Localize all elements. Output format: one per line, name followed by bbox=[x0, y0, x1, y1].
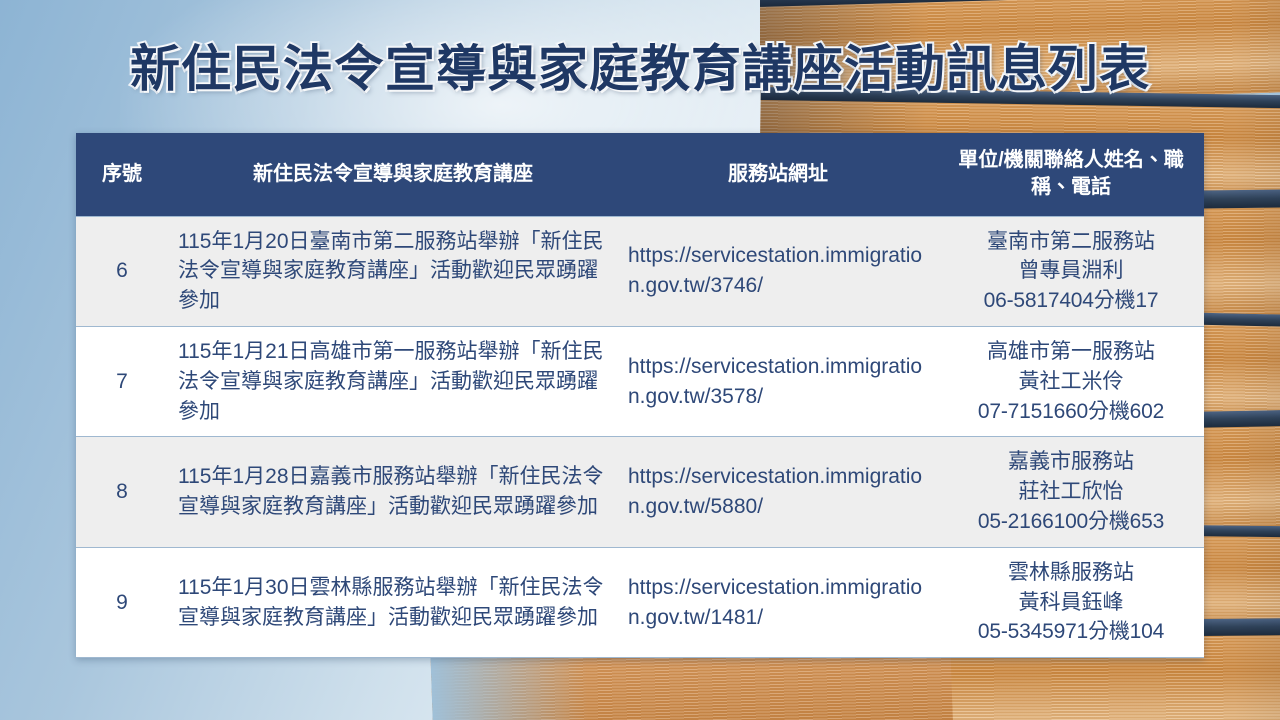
contact-station: 嘉義市服務站 bbox=[948, 447, 1194, 477]
contact-person: 莊社工欣怡 bbox=[948, 477, 1194, 507]
info-table-container: 序號 新住民法令宣導與家庭教育講座 服務站網址 單位/機關聯絡人姓名、職稱、電話… bbox=[76, 133, 1204, 658]
contact-person: 曾專員淵利 bbox=[948, 256, 1194, 286]
contact-station: 臺南市第二服務站 bbox=[948, 227, 1194, 257]
contact-phone: 07-7151660分機602 bbox=[948, 397, 1194, 427]
table-header: 序號 新住民法令宣導與家庭教育講座 服務站網址 單位/機關聯絡人姓名、職稱、電話 bbox=[76, 133, 1204, 216]
cell-event-title: 115年1月21日高雄市第一服務站舉辦「新住民法令宣導與家庭教育講座」活動歡迎民… bbox=[168, 326, 618, 436]
table-row: 8 115年1月28日嘉義市服務站舉辦「新住民法令宣導與家庭教育講座」活動歡迎民… bbox=[76, 437, 1204, 547]
cell-contact: 雲林縣服務站 黃科員鈺峰 05-5345971分機104 bbox=[938, 547, 1204, 657]
contact-station: 雲林縣服務站 bbox=[948, 558, 1194, 588]
cell-event-title: 115年1月30日雲林縣服務站舉辦「新住民法令宣導與家庭教育講座」活動歡迎民眾踴… bbox=[168, 547, 618, 657]
activity-info-table: 序號 新住民法令宣導與家庭教育講座 服務站網址 單位/機關聯絡人姓名、職稱、電話… bbox=[76, 133, 1204, 658]
table-row: 7 115年1月21日高雄市第一服務站舉辦「新住民法令宣導與家庭教育講座」活動歡… bbox=[76, 326, 1204, 436]
table-body: 6 115年1月20日臺南市第二服務站舉辦「新住民法令宣導與家庭教育講座」活動歡… bbox=[76, 216, 1204, 658]
contact-person: 黃社工米伶 bbox=[948, 367, 1194, 397]
column-header-contact: 單位/機關聯絡人姓名、職稱、電話 bbox=[938, 133, 1204, 216]
contact-phone: 06-5817404分機17 bbox=[948, 286, 1194, 316]
table-row: 6 115年1月20日臺南市第二服務站舉辦「新住民法令宣導與家庭教育講座」活動歡… bbox=[76, 216, 1204, 326]
contact-phone: 05-2166100分機653 bbox=[948, 507, 1194, 537]
table-row: 9 115年1月30日雲林縣服務站舉辦「新住民法令宣導與家庭教育講座」活動歡迎民… bbox=[76, 547, 1204, 657]
cell-service-url[interactable]: https://servicestation.immigration.gov.t… bbox=[618, 547, 938, 657]
cell-service-url[interactable]: https://servicestation.immigration.gov.t… bbox=[618, 437, 938, 547]
table-header-row: 序號 新住民法令宣導與家庭教育講座 服務站網址 單位/機關聯絡人姓名、職稱、電話 bbox=[76, 133, 1204, 216]
cell-event-title: 115年1月20日臺南市第二服務站舉辦「新住民法令宣導與家庭教育講座」活動歡迎民… bbox=[168, 216, 618, 326]
cell-contact: 臺南市第二服務站 曾專員淵利 06-5817404分機17 bbox=[938, 216, 1204, 326]
cell-sequence: 7 bbox=[76, 326, 168, 436]
cell-sequence: 8 bbox=[76, 437, 168, 547]
column-header-seq: 序號 bbox=[76, 133, 168, 216]
page-title: 新住民法令宣導與家庭教育講座活動訊息列表 bbox=[0, 40, 1280, 99]
cell-sequence: 6 bbox=[76, 216, 168, 326]
contact-person: 黃科員鈺峰 bbox=[948, 588, 1194, 618]
cell-contact: 嘉義市服務站 莊社工欣怡 05-2166100分機653 bbox=[938, 437, 1204, 547]
contact-phone: 05-5345971分機104 bbox=[948, 617, 1194, 647]
cell-sequence: 9 bbox=[76, 547, 168, 657]
contact-station: 高雄市第一服務站 bbox=[948, 337, 1194, 367]
cell-contact: 高雄市第一服務站 黃社工米伶 07-7151660分機602 bbox=[938, 326, 1204, 436]
column-header-event: 新住民法令宣導與家庭教育講座 bbox=[168, 133, 618, 216]
cell-service-url[interactable]: https://servicestation.immigration.gov.t… bbox=[618, 326, 938, 436]
cell-event-title: 115年1月28日嘉義市服務站舉辦「新住民法令宣導與家庭教育講座」活動歡迎民眾踴… bbox=[168, 437, 618, 547]
cell-service-url[interactable]: https://servicestation.immigration.gov.t… bbox=[618, 216, 938, 326]
column-header-url: 服務站網址 bbox=[618, 133, 938, 216]
